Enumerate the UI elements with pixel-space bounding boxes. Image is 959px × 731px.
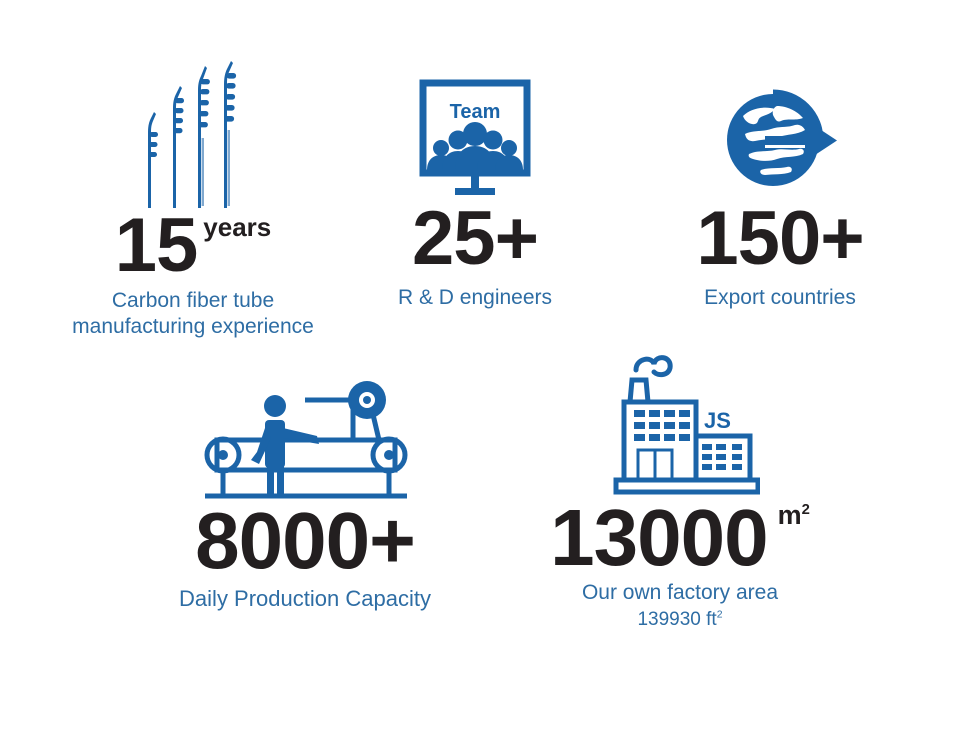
stat-card-capacity: 8000+ Daily Production Capacity xyxy=(150,378,460,613)
subcaption-unit: ft2 xyxy=(706,609,722,630)
stat-caption-capacity: Daily Production Capacity xyxy=(179,585,431,613)
stat-card-countries: 150+ Export countries xyxy=(665,78,895,311)
stat-unit-factory: m2 xyxy=(768,500,810,529)
subcaption-number: 139930 xyxy=(637,609,700,630)
stat-caption-countries: Export countries xyxy=(704,285,856,311)
globe-export-arrow-icon xyxy=(715,78,845,203)
stat-value-factory: 13000 xyxy=(550,500,767,576)
stat-caption-engineers: R & D engineers xyxy=(398,285,552,311)
infographic-canvas: 15 years Carbon fiber tube manufacturing… xyxy=(0,0,959,731)
carbon-fiber-tubes-icon xyxy=(128,60,258,210)
stat-value-capacity: 8000+ xyxy=(195,503,415,579)
conveyor-worker-icon xyxy=(193,378,418,503)
team-monitor-icon: Team xyxy=(405,78,545,203)
stat-value-engineers: 25+ xyxy=(412,203,538,275)
stat-subcaption-factory: 139930 ft2 xyxy=(637,608,722,633)
stat-card-years: 15 years Carbon fiber tube manufacturing… xyxy=(18,60,368,341)
subcaption-unit-superscript: 2 xyxy=(717,610,723,621)
stat-value-row: 25+ xyxy=(412,203,538,275)
stat-card-engineers: Team xyxy=(375,78,575,311)
stat-value-row: 13000 m2 xyxy=(550,500,810,576)
team-icon-label: Team xyxy=(450,101,501,123)
stat-value-row: 150+ xyxy=(696,203,863,275)
stat-card-factory: JS xyxy=(520,340,840,633)
stat-value-years: 15 xyxy=(115,210,198,282)
unit-base: m xyxy=(778,500,802,530)
unit-superscript: 2 xyxy=(802,502,810,518)
stat-caption-years: Carbon fiber tube manufacturing experien… xyxy=(72,288,314,341)
factory-building-icon: JS xyxy=(600,340,760,500)
stat-value-row: 15 years xyxy=(115,210,272,282)
stat-caption-factory: Our own factory area xyxy=(582,580,778,606)
stat-value-row: 8000+ xyxy=(195,503,415,579)
stat-unit-years: years xyxy=(197,210,271,240)
stat-value-countries: 150+ xyxy=(696,203,863,275)
subcaption-unit-base: ft xyxy=(706,609,717,630)
factory-icon-label: JS xyxy=(704,408,731,433)
